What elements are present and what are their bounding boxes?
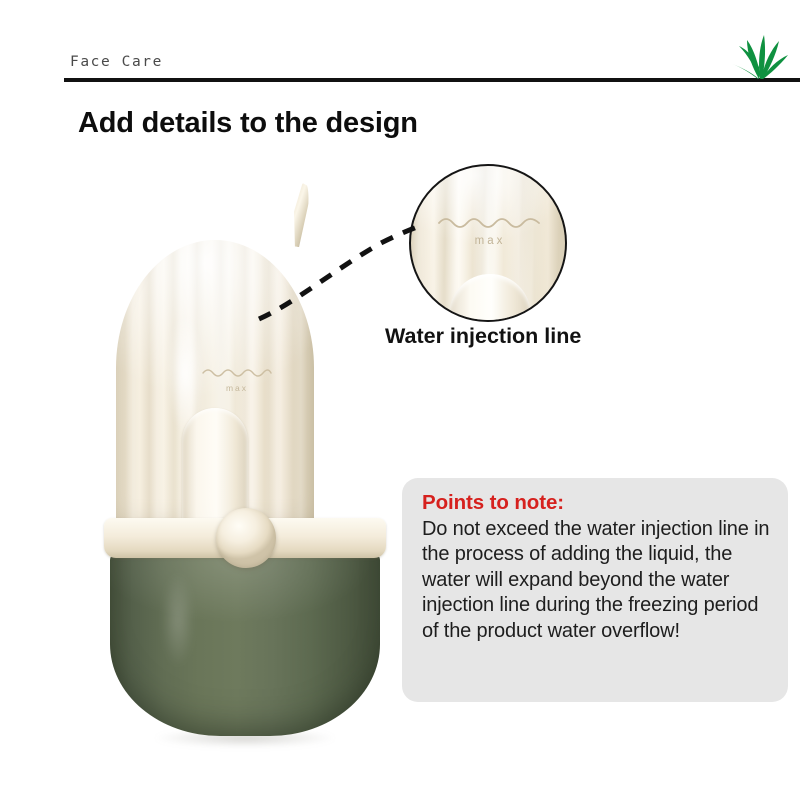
max-label: max bbox=[200, 383, 274, 393]
hanging-strap-icon bbox=[288, 182, 313, 248]
note-body: Do not exceed the water injection line i… bbox=[422, 517, 770, 644]
page-title: Add details to the design bbox=[78, 107, 418, 140]
base-highlight bbox=[156, 568, 200, 698]
header-divider bbox=[64, 78, 800, 82]
magnified-max-label: max bbox=[435, 235, 545, 247]
magnified-max-marking: max bbox=[435, 214, 545, 247]
header-bar: Face Care Add details to the design bbox=[0, 0, 800, 130]
max-fill-marking: max bbox=[200, 364, 274, 393]
round-knob-icon bbox=[216, 508, 276, 568]
wavy-line-icon bbox=[200, 364, 274, 382]
leaf-cluster-icon bbox=[728, 22, 792, 80]
ice-roller-product: max bbox=[96, 180, 396, 750]
magnifier-circle-icon: max bbox=[409, 164, 567, 322]
product-base bbox=[110, 550, 380, 736]
product-cap: max bbox=[116, 240, 314, 530]
note-heading: Points to note: bbox=[422, 491, 770, 515]
callout-label: Water injection line bbox=[385, 324, 581, 349]
wavy-line-icon bbox=[435, 215, 545, 232]
points-to-note-panel: Points to note: Do not exceed the water … bbox=[402, 478, 788, 702]
eyebrow-label: Face Care bbox=[70, 54, 163, 70]
